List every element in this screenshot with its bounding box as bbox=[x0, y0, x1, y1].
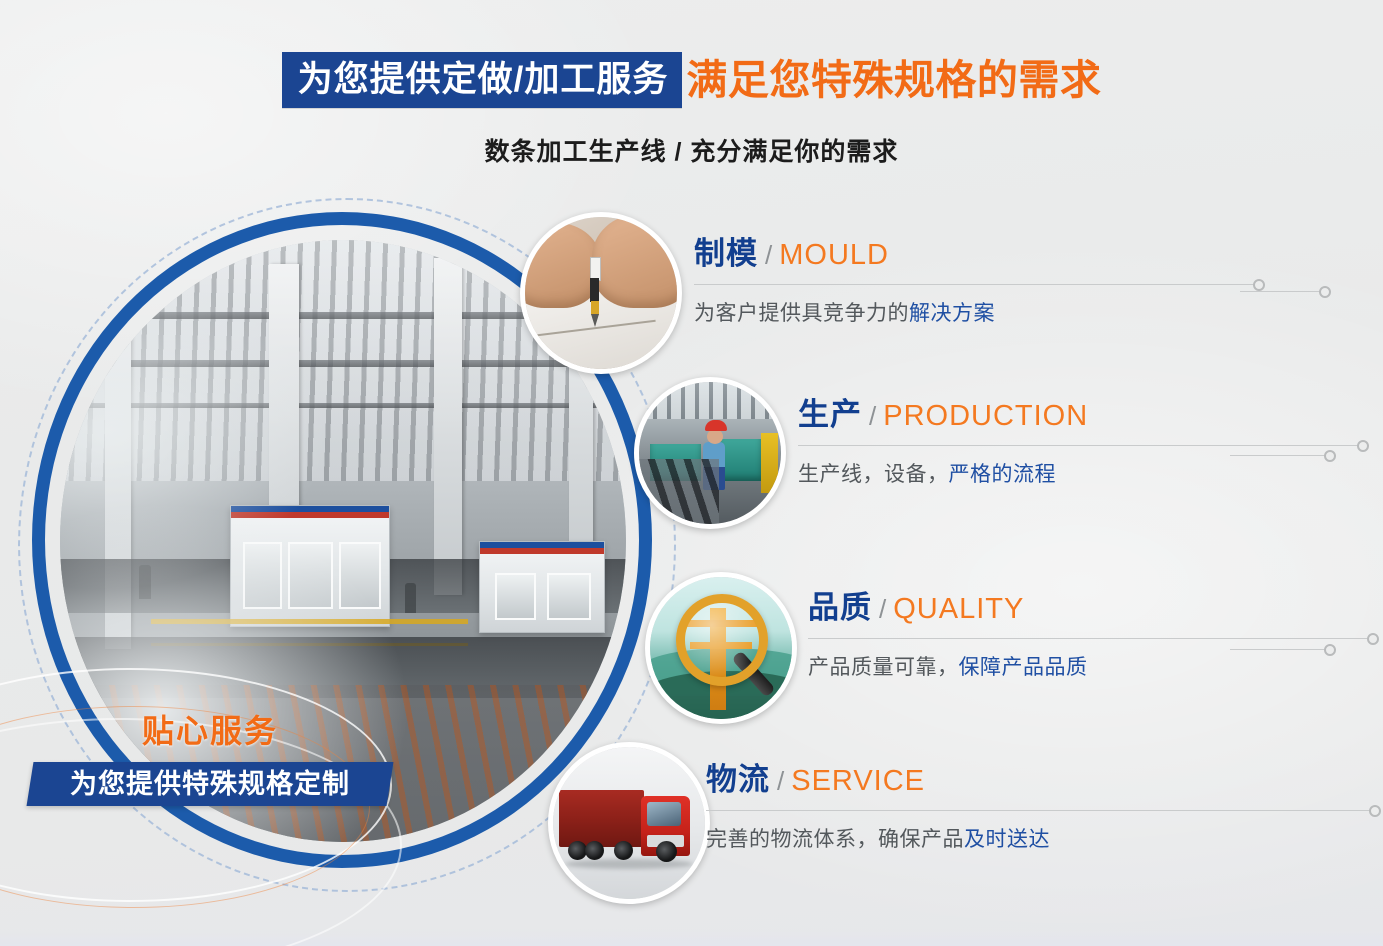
production-title-en: PRODUCTION bbox=[883, 400, 1088, 432]
truck-wheel bbox=[656, 841, 677, 862]
service-description: 完善的物流体系，确保产品及时送达 bbox=[706, 823, 1266, 853]
quality-text: 品质/QUALITY 产品质量可靠，保障产品品质 bbox=[808, 592, 1368, 681]
service-desc-plain: 完善的物流体系，确保产品 bbox=[706, 828, 964, 851]
production-title-cn: 生产 bbox=[798, 397, 862, 432]
quality-title-en: QUALITY bbox=[893, 593, 1024, 625]
connector-line-production bbox=[1230, 455, 1325, 456]
connector-dot-icon bbox=[1324, 450, 1336, 462]
mould-desc-plain: 为客户提供具竞争力的 bbox=[694, 302, 909, 325]
service-title-cn: 物流 bbox=[706, 762, 770, 797]
hand-drawing-compass-icon bbox=[525, 217, 677, 369]
connector-dot-icon bbox=[1319, 286, 1331, 298]
workshop-roof bbox=[639, 382, 781, 419]
mould-divider bbox=[694, 284, 1254, 285]
divider-dot-icon bbox=[1253, 279, 1265, 291]
service-text: 物流/SERVICE 完善的物流体系，确保产品及时送达 bbox=[706, 764, 1266, 853]
quality-description: 产品质量可靠，保障产品品质 bbox=[808, 651, 1368, 681]
quality-thumbnail bbox=[645, 572, 797, 724]
steel-stock-pile bbox=[634, 459, 719, 524]
service-title-en: SERVICE bbox=[791, 765, 925, 797]
quality-heading: 品质/QUALITY bbox=[808, 592, 1368, 624]
mould-separator: / bbox=[758, 240, 779, 270]
truck-wheel bbox=[585, 841, 604, 860]
production-divider bbox=[798, 445, 1358, 446]
connector-line-service bbox=[1230, 810, 1370, 811]
header-headline: 满足您特殊规格的需求 bbox=[682, 52, 1101, 108]
pen-body-black bbox=[590, 278, 599, 302]
quality-divider bbox=[808, 638, 1368, 639]
truck-shadow bbox=[565, 859, 693, 869]
magnifier-inspection-icon bbox=[650, 577, 792, 719]
production-description: 生产线，设备，严格的流程 bbox=[798, 458, 1358, 488]
red-truck-icon bbox=[553, 747, 705, 899]
service-banner-label: 为您提供特殊规格定制 bbox=[70, 762, 350, 806]
service-desc-highlight: 及时送达 bbox=[964, 828, 1050, 851]
mould-description: 为客户提供具竞争力的解决方案 bbox=[694, 297, 1254, 327]
divider-dot-icon bbox=[1367, 633, 1379, 645]
header-badge: 为您提供定做/加工服务 bbox=[282, 52, 683, 108]
production-desc-highlight: 严格的流程 bbox=[949, 463, 1057, 486]
mould-title-cn: 制模 bbox=[694, 236, 758, 271]
magnifier-lens bbox=[676, 594, 768, 686]
mould-title-en: MOULD bbox=[779, 239, 889, 271]
promo-banner: 为您提供定做/加工服务 满足您特殊规格的需求 数条加工生产线 / 充分满足你的需… bbox=[0, 0, 1383, 946]
factory-worker-icon bbox=[639, 382, 781, 524]
production-thumbnail bbox=[634, 377, 786, 529]
pen-body-yellow bbox=[591, 301, 599, 315]
title-row: 为您提供定做/加工服务 满足您特殊规格的需求 bbox=[282, 52, 1102, 108]
header-subtitle: 数条加工生产线 / 充分满足你的需求 bbox=[0, 132, 1383, 168]
mould-desc-highlight: 解决方案 bbox=[909, 302, 995, 325]
production-text: 生产/PRODUCTION 生产线，设备，严格的流程 bbox=[798, 399, 1358, 488]
service-separator: / bbox=[770, 766, 791, 796]
machine-guard-yellow bbox=[761, 433, 778, 493]
pen-tip bbox=[591, 314, 599, 327]
worker-head bbox=[707, 429, 723, 444]
quality-desc-plain: 产品质量可靠， bbox=[808, 656, 959, 679]
truck-wheel bbox=[614, 841, 633, 860]
service-title: 贴心服务 bbox=[30, 706, 390, 752]
service-badge-group: 贴心服务 为您提供特殊规格定制 bbox=[30, 706, 390, 806]
background-bottom-band bbox=[0, 928, 1383, 946]
connector-line-mould bbox=[1240, 291, 1320, 292]
hand-left bbox=[520, 223, 601, 308]
production-separator: / bbox=[862, 401, 883, 431]
production-heading: 生产/PRODUCTION bbox=[798, 399, 1358, 431]
service-banner: 为您提供特殊规格定制 bbox=[27, 762, 394, 806]
quality-separator: / bbox=[872, 594, 893, 624]
machine-unit bbox=[719, 439, 762, 482]
hand-right bbox=[592, 214, 682, 308]
divider-dot-icon bbox=[1357, 440, 1369, 452]
mould-heading: 制模/MOULD bbox=[694, 238, 1254, 270]
quality-desc-highlight: 保障产品品质 bbox=[959, 656, 1088, 679]
truck-trailer bbox=[559, 790, 644, 848]
connector-dot-icon bbox=[1369, 805, 1381, 817]
quality-title-cn: 品质 bbox=[808, 590, 872, 625]
mould-thumbnail bbox=[520, 212, 682, 374]
truck-windshield bbox=[647, 802, 680, 826]
service-thumbnail bbox=[548, 742, 710, 904]
header: 为您提供定做/加工服务 满足您特殊规格的需求 数条加工生产线 / 充分满足你的需… bbox=[0, 52, 1383, 168]
mould-text: 制模/MOULD 为客户提供具竞争力的解决方案 bbox=[694, 238, 1254, 327]
service-divider bbox=[706, 810, 1266, 811]
connector-line-quality bbox=[1230, 649, 1325, 650]
production-desc-plain: 生产线，设备， bbox=[798, 463, 949, 486]
service-heading: 物流/SERVICE bbox=[706, 764, 1266, 796]
worker-hardhat bbox=[705, 420, 727, 431]
connector-dot-icon bbox=[1324, 644, 1336, 656]
